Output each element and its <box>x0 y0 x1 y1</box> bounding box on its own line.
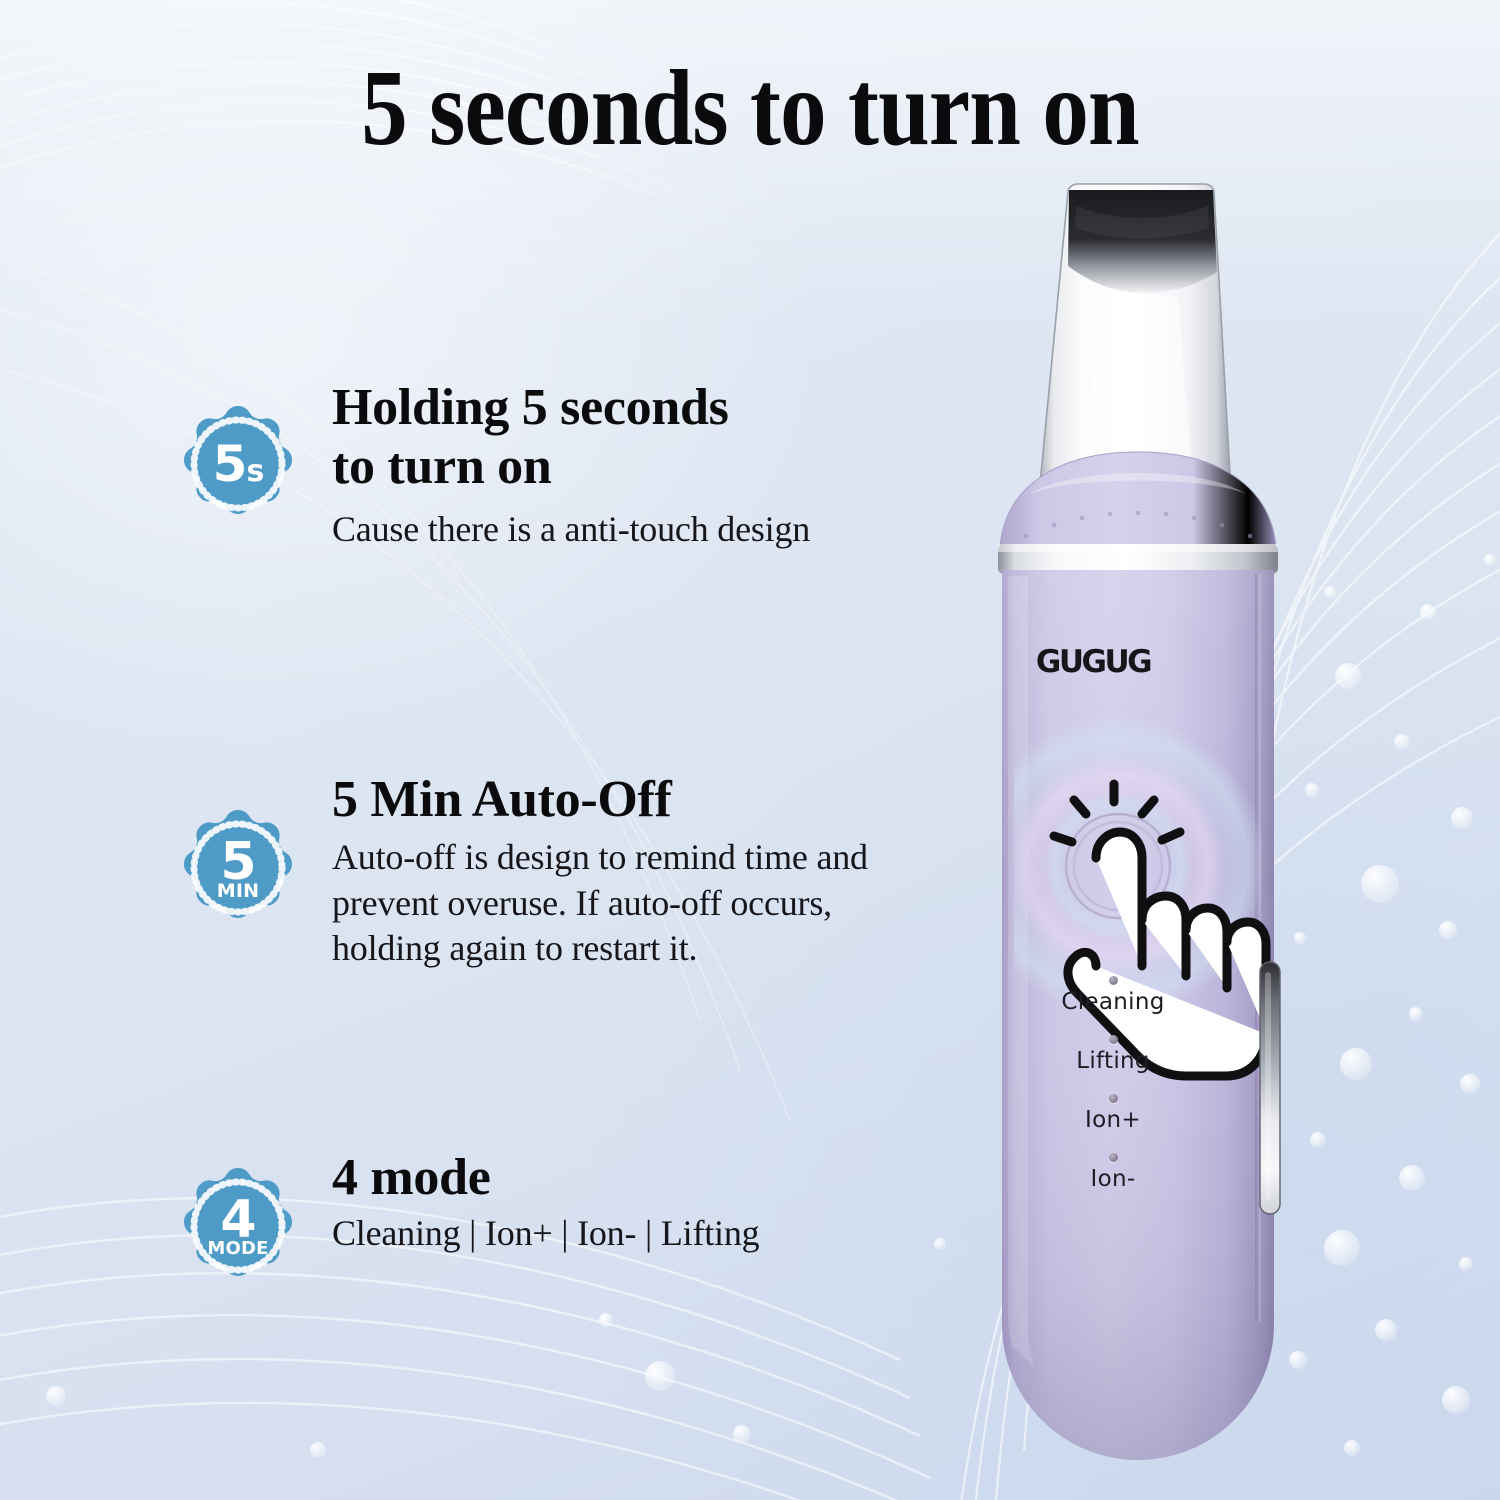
product-device-image: GUGUG Cleaning Lifting Ion+ Ion- <box>968 176 1308 1466</box>
feature-body: Cause there is a anti-touch design <box>332 507 810 552</box>
metal-spatula-head <box>1041 184 1230 488</box>
feature-heading: 5 Min Auto-Off <box>332 770 868 829</box>
feature-row-hold-5-seconds: 5s Holding 5 seconds to turn on Cause th… <box>176 378 810 552</box>
feature-row-4-mode: 4 MODE 4 mode Cleaning | Ion+ | Ion- | L… <box>176 1148 759 1288</box>
feature-text-block: 5 Min Auto-Off Auto-off is design to rem… <box>332 770 868 971</box>
badge-4mode-icon: 4 MODE <box>176 1164 300 1288</box>
feature-heading: Holding 5 seconds to turn on <box>332 378 810 497</box>
page-title: 5 seconds to turn on <box>105 52 1395 165</box>
badge-5s-icon: 5s <box>176 402 300 526</box>
feature-body: Auto-off is design to remind time and pr… <box>332 835 868 971</box>
feature-body: Cleaning | Ion+ | Ion- | Lifting <box>332 1211 759 1256</box>
feature-text-block: 4 mode Cleaning | Ion+ | Ion- | Lifting <box>332 1148 759 1257</box>
feature-text-block: Holding 5 seconds to turn on Cause there… <box>332 378 810 552</box>
feature-row-auto-off: 5 MIN 5 Min Auto-Off Auto-off is design … <box>176 770 868 971</box>
feature-heading: 4 mode <box>332 1148 759 1207</box>
infographic-page: 5 seconds to turn on 5s Holding 5 second… <box>0 0 1500 1500</box>
badge-5min-icon: 5 MIN <box>176 806 300 930</box>
side-strip-button <box>1260 962 1280 1214</box>
